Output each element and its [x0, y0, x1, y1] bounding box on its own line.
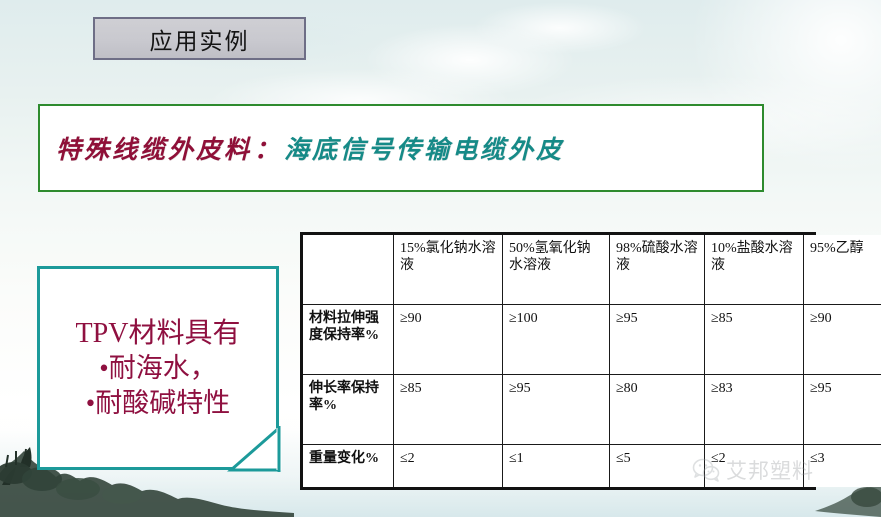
- table-cell-1-2: ≥80: [610, 375, 705, 445]
- table-header-cell-4: 10%盐酸水溶液: [705, 235, 804, 304]
- table-cell-0-1: ≥100: [503, 304, 610, 374]
- headline-box: 特殊线缆外皮料：海底信号传输电缆外皮: [38, 104, 764, 192]
- table-header-cell-1: 15%氯化钠水溶液: [394, 235, 503, 304]
- table-cell-1-4: ≥95: [804, 375, 881, 445]
- table-header-cell-3: 98%硫酸水溶液: [610, 235, 705, 304]
- table-cell-2-4: ≤3: [804, 445, 881, 487]
- headline-part-a: 特殊线缆外皮料: [56, 137, 252, 164]
- table-cell-2-3: ≤2: [705, 445, 804, 487]
- callout-body: TPV材料具有 •耐海水， •耐酸碱特性: [37, 266, 279, 470]
- table-cell-0-2: ≥95: [610, 304, 705, 374]
- table-cell-2-1: ≤1: [503, 445, 610, 487]
- table-row-label-2: 重量变化%: [303, 445, 394, 487]
- table-header-row: 15%氯化钠水溶液 50%氢氧化钠水溶液 98%硫酸水溶液 10%盐酸水溶液 9…: [303, 235, 881, 304]
- table-row: 材料拉伸强度保持率% ≥90 ≥100 ≥95 ≥85 ≥90: [303, 304, 881, 374]
- slide-title-banner: 应用实例: [93, 17, 306, 60]
- table-cell-1-3: ≥83: [705, 375, 804, 445]
- table-cell-1-1: ≥95: [503, 375, 610, 445]
- callout-box: TPV材料具有 •耐海水， •耐酸碱特性: [37, 266, 279, 470]
- table-row: 伸长率保持率% ≥85 ≥95 ≥80 ≥83 ≥95: [303, 375, 881, 445]
- callout-line-3: •耐酸碱特性: [86, 386, 230, 421]
- table-row-label-0: 材料拉伸强度保持率%: [303, 304, 394, 374]
- table-cell-0-4: ≥90: [804, 304, 881, 374]
- headline-part-b: 海底信号传输电缆外皮: [284, 137, 564, 164]
- properties-table: 15%氯化钠水溶液 50%氢氧化钠水溶液 98%硫酸水溶液 10%盐酸水溶液 9…: [300, 232, 816, 490]
- table-cell-2-0: ≤2: [394, 445, 503, 487]
- headline-separator: ：: [252, 137, 284, 164]
- table-row: 重量变化% ≤2 ≤1 ≤5 ≤2 ≤3: [303, 445, 881, 487]
- table-cell-0-0: ≥90: [394, 304, 503, 374]
- table-header-cell-0: [303, 235, 394, 304]
- slide-canvas: 应用实例 特殊线缆外皮料：海底信号传输电缆外皮 TPV材料具有 •耐海水， •耐…: [0, 0, 881, 517]
- headline-text: 特殊线缆外皮料：海底信号传输电缆外皮: [56, 130, 564, 166]
- page-title: 应用实例: [150, 22, 250, 56]
- table-cell-1-0: ≥85: [394, 375, 503, 445]
- table-header-cell-2: 50%氢氧化钠水溶液: [503, 235, 610, 304]
- table-cell-2-2: ≤5: [610, 445, 705, 487]
- table: 15%氯化钠水溶液 50%氢氧化钠水溶液 98%硫酸水溶液 10%盐酸水溶液 9…: [303, 235, 881, 487]
- table-row-label-1: 伸长率保持率%: [303, 375, 394, 445]
- callout-line-2: •耐海水，: [99, 351, 216, 386]
- callout-line-1: TPV材料具有: [76, 316, 241, 352]
- table-cell-0-3: ≥85: [705, 304, 804, 374]
- table-header-cell-5: 95%乙醇: [804, 235, 881, 304]
